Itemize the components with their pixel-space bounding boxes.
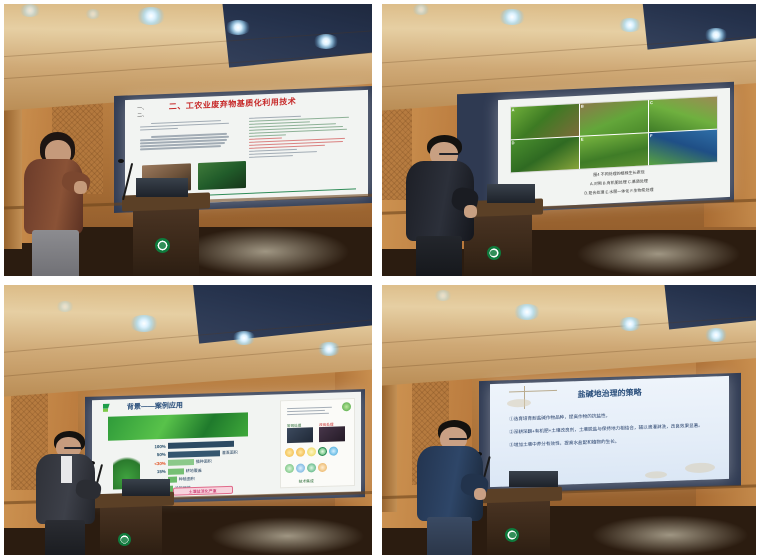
bar-fill <box>168 441 234 449</box>
soil-icon <box>308 463 317 472</box>
laptop <box>487 184 536 203</box>
panel-label-right: 改良处理 <box>319 422 333 427</box>
ceiling-light <box>129 315 159 332</box>
hand <box>474 488 486 500</box>
grid-cell: E <box>580 133 648 169</box>
bar-caption: 播种面积 <box>194 459 212 466</box>
torso <box>24 159 84 234</box>
legs <box>45 520 85 555</box>
laptop <box>136 178 188 197</box>
bar-label: <30% <box>146 460 168 466</box>
ceiling-light <box>704 328 728 342</box>
grid-cell: D <box>511 136 579 172</box>
leaf-circle-icon <box>319 447 328 456</box>
bar-label: 100% <box>146 443 168 449</box>
ceiling-light <box>313 34 339 49</box>
legs <box>416 236 462 276</box>
podium <box>487 496 551 555</box>
slide-title: 背景——案例应用 <box>127 400 183 412</box>
ceiling-light <box>317 342 341 356</box>
speaker-figure <box>416 420 495 555</box>
sun-icon <box>286 448 295 457</box>
footer-pill: 土壤盐渍化严重 <box>173 485 233 495</box>
bar-caption: 耕地覆盖 <box>184 467 202 474</box>
ceiling-light <box>56 301 74 312</box>
slide-title: 二、工农业废弃物基质化利用技术 <box>169 96 297 112</box>
ceiling-light <box>136 7 166 25</box>
laptop <box>122 479 170 495</box>
ceiling-light <box>412 4 430 15</box>
speaker-figure <box>33 431 107 555</box>
bar-label: 15% <box>146 469 168 475</box>
grid-cell-label: D <box>512 140 515 145</box>
slide-right-column <box>249 112 358 160</box>
legs <box>32 230 79 276</box>
podium <box>100 501 163 555</box>
speaker-figure <box>19 132 100 276</box>
ceiling-light <box>513 304 541 320</box>
slide-bullets: ①选育培育耐盐碱作物品种，提高作物的抗盐性。 ②深耕深翻+有机肥+土壤改良剂，土… <box>510 407 711 449</box>
slide-photo-2 <box>198 161 247 191</box>
glasses <box>439 153 459 155</box>
shirt-collar <box>61 456 71 483</box>
badge-icon <box>343 401 352 410</box>
hand <box>74 181 87 194</box>
glasses <box>449 438 468 440</box>
water-drop-icon <box>330 446 339 455</box>
lecture-hall-scene: A B C D E <box>382 4 756 276</box>
university-emblem <box>487 246 501 260</box>
speaker-figure <box>404 135 486 276</box>
grid-cell: A <box>511 103 579 139</box>
cloud-motif <box>685 462 715 473</box>
bar-label: 50% <box>146 452 168 458</box>
sun-icon <box>297 447 306 456</box>
photo-collage: 二、工农业废弃物基质化利用技术 一、二、 <box>0 0 760 559</box>
bar-caption: 灌溉面积 <box>220 449 238 456</box>
university-emblem <box>155 238 170 253</box>
right-panel: 常规处理 改良处理 <box>280 398 355 488</box>
icon-row-1 <box>286 446 339 457</box>
grid-cell-label: B <box>581 103 584 108</box>
grid-cell: B <box>580 99 648 135</box>
photo-grid: A B C D E <box>510 95 719 173</box>
field-banner-photo <box>108 412 248 440</box>
floor-reflection <box>210 517 365 555</box>
cloud-motif <box>646 470 668 478</box>
ceiling-light <box>232 331 256 345</box>
flag-icon-small <box>103 408 108 411</box>
ceiling-light <box>19 4 41 17</box>
slide-left-column <box>140 118 237 152</box>
bar-fill <box>168 450 220 458</box>
bar-fill <box>168 459 194 466</box>
recycle-icon <box>297 463 306 472</box>
slide-title-prefix: 一、二、 <box>138 105 148 119</box>
hand <box>464 205 477 218</box>
icon-row-2 <box>286 462 328 472</box>
lecture-hall-scene: 二、工农业废弃物基质化利用技术 一、二、 <box>4 4 372 276</box>
collage-panel-top-left[interactable]: 二、工农业废弃物基质化利用技术 一、二、 <box>4 4 372 276</box>
floor-reflection <box>576 232 741 276</box>
slide-title: 盐碱地治理的策略 <box>490 384 729 403</box>
panel-footer: 技术集成 <box>299 479 314 484</box>
legs <box>427 517 473 555</box>
bar-caption: 种植面积 <box>177 476 195 483</box>
grid-cell-label: E <box>581 136 584 141</box>
bar-fill <box>168 468 184 475</box>
grid-cell-label: F <box>650 132 652 137</box>
grid-cell: C <box>649 96 717 132</box>
gear-icon <box>319 462 328 471</box>
slide-bottom-right: 盐碱地治理的策略 ①选育培育耐盐碱作物品种，提高作物的抗盐性。 ②深耕深翻+有机… <box>490 375 729 486</box>
grid-cell-label: A <box>512 106 515 111</box>
grid-cell-label: C <box>650 99 653 104</box>
glasses <box>64 447 82 449</box>
projection-screen[interactable]: 盐碱地治理的策略 ①选育培育耐盐碱作物品种，提高作物的抗盐性。 ②深耕深翻+有机… <box>490 375 729 486</box>
lecture-hall-scene: 盐碱地治理的策略 ①选育培育耐盐碱作物品种，提高作物的抗盐性。 ②深耕深翻+有机… <box>382 285 756 555</box>
plant-icon <box>286 463 295 472</box>
collage-panel-bottom-right[interactable]: 盐碱地治理的策略 ①选育培育耐盐碱作物品种，提高作物的抗盐性。 ②深耕深翻+有机… <box>382 285 756 555</box>
floor-reflection <box>181 227 350 276</box>
grid-cell: F <box>649 129 717 165</box>
lecture-hall-scene: 背景——案例应用 100% 50% 灌溉面积 <3 <box>4 285 372 555</box>
floor-reflection <box>591 515 748 556</box>
laptop <box>509 471 558 487</box>
collage-panel-top-right[interactable]: A B C D E <box>382 4 756 276</box>
panel-label-left: 常规处理 <box>287 424 301 429</box>
ceiling-light <box>618 18 642 32</box>
sun-icon <box>308 447 317 456</box>
collage-panel-bottom-left[interactable]: 背景——案例应用 100% 50% 灌溉面积 <3 <box>4 285 372 555</box>
